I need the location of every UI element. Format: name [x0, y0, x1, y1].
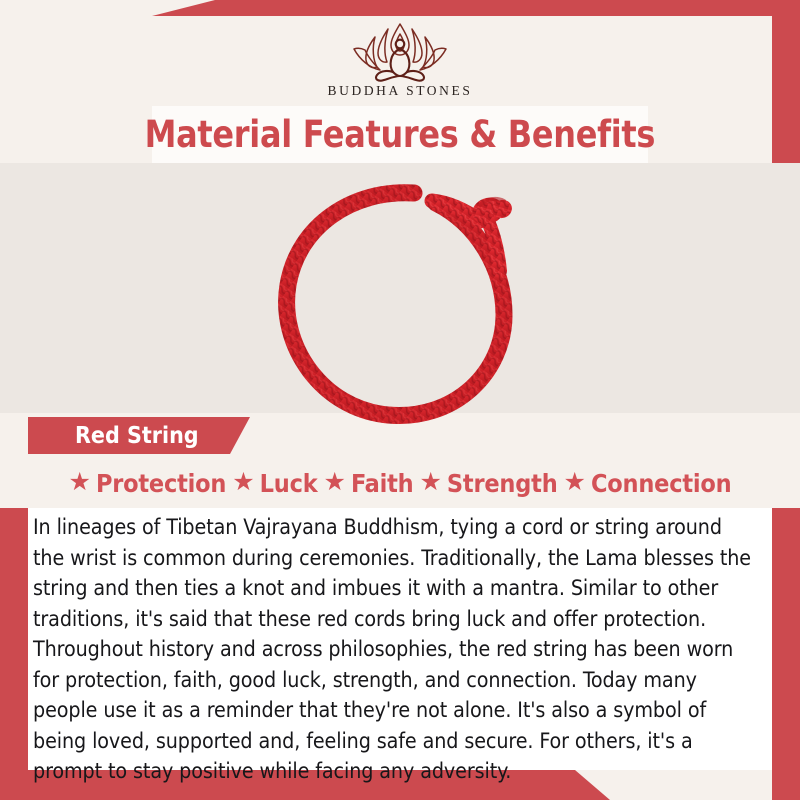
material-label: Red String: [75, 423, 199, 449]
benefits-list: ★ Protection ★ Luck ★ Faith ★ Strength ★…: [28, 463, 772, 503]
material-label-ribbon: Red String: [28, 417, 250, 454]
star-icon: ★: [232, 470, 254, 495]
benefit-item-strength: ★ Strength: [420, 469, 558, 498]
brand-logo: BUDDHA STONES: [0, 16, 800, 104]
lotus-meditation-icon: [344, 20, 456, 82]
benefit-label: Luck: [260, 469, 318, 498]
frame-top-accent: [0, 0, 800, 16]
star-icon: ★: [69, 470, 91, 495]
benefit-label: Connection: [591, 469, 732, 498]
infographic-canvas: BUDDHA STONES Material Features & Benefi…: [0, 0, 800, 800]
red-braided-string-bracelet: [236, 175, 566, 430]
star-icon: ★: [564, 470, 586, 495]
benefit-item-protection: ★ Protection: [69, 469, 227, 498]
star-icon: ★: [324, 470, 346, 495]
benefit-item-faith: ★ Faith: [324, 469, 414, 498]
benefit-label: Protection: [96, 469, 226, 498]
benefit-label: Strength: [447, 469, 558, 498]
star-icon: ★: [420, 470, 442, 495]
benefit-item-luck: ★ Luck: [232, 469, 317, 498]
brand-name: BUDDHA STONES: [328, 83, 473, 99]
benefit-item-connection: ★ Connection: [564, 469, 732, 498]
page-title-band: Material Features & Benefits: [152, 106, 648, 163]
benefit-label: Faith: [351, 469, 414, 498]
description-text: In lineages of Tibetan Vajrayana Buddhis…: [33, 513, 756, 788]
page-title: Material Features & Benefits: [145, 113, 655, 156]
description-panel: In lineages of Tibetan Vajrayana Buddhis…: [28, 508, 772, 770]
